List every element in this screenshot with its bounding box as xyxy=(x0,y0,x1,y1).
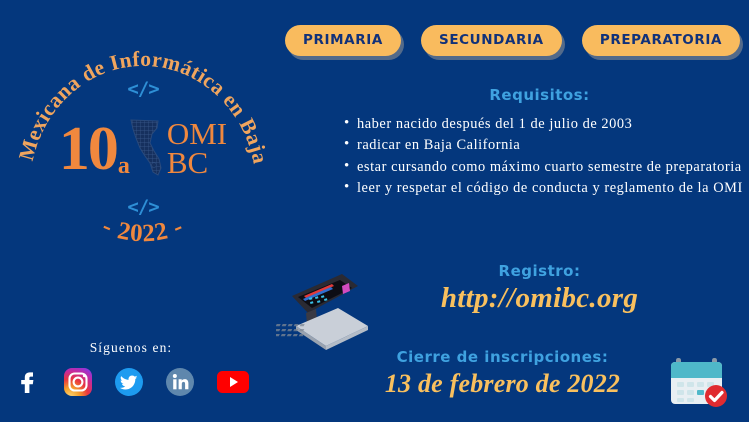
poster-root: Olimpiada Mexicana de Informática en Baj… xyxy=(0,0,749,422)
follow-us-label: Síguenos en: xyxy=(0,340,262,356)
youtube-icon[interactable] xyxy=(216,369,250,395)
deadline-heading: Cierre de inscripciones: xyxy=(330,348,675,366)
level-button-row: PRIMARIA SECUNDARIA PREPARATORIA xyxy=(285,22,740,58)
desktop-computer-keyboard-illustration xyxy=(276,266,372,358)
social-section: Síguenos en: xyxy=(0,340,262,397)
instagram-icon[interactable] xyxy=(63,367,93,397)
requirements-list: haber nacido después del 1 de julio de 2… xyxy=(330,114,749,199)
level-button-secundaria[interactable]: SECUNDARIA xyxy=(421,25,562,56)
level-button-preparatoria[interactable]: PREPARATORIA xyxy=(582,25,740,56)
logo-acronym: OMI BC xyxy=(167,120,227,177)
registration-section: Registro: http://omibc.org xyxy=(330,262,749,315)
omi-bc-logo: Olimpiada Mexicana de Informática en Baj… xyxy=(8,2,278,292)
requirements-section: Requisitos: haber nacido después del 1 d… xyxy=(330,86,749,200)
code-bracket-bottom-icon: </> xyxy=(8,196,278,218)
level-button-primaria[interactable]: PRIMARIA xyxy=(285,25,401,56)
code-bracket-top-icon: </> xyxy=(8,78,278,100)
registration-url[interactable]: http://omibc.org xyxy=(330,282,749,315)
logo-acronym-bc: BC xyxy=(167,149,227,178)
deadline-section: Cierre de inscripciones: 13 de febrero d… xyxy=(330,348,675,399)
calendar-check-icon xyxy=(669,354,731,410)
registration-heading: Registro: xyxy=(330,262,749,280)
social-icon-row xyxy=(0,367,262,397)
deadline-date: 13 de febrero de 2022 xyxy=(330,369,675,399)
linkedin-icon[interactable] xyxy=(165,367,195,397)
logo-edition-number: 10 xyxy=(59,118,117,180)
requirements-heading: Requisitos: xyxy=(330,86,749,104)
baja-california-map-icon xyxy=(128,118,168,180)
requirement-item: haber nacido después del 1 de julio de 2… xyxy=(344,114,749,134)
facebook-icon[interactable] xyxy=(12,367,42,397)
requirement-item: radicar en Baja California xyxy=(344,135,749,155)
requirement-item: leer y respetar el código de conducta y … xyxy=(344,178,749,198)
logo-center-group: 10 a OMI BC xyxy=(8,110,278,188)
twitter-icon[interactable] xyxy=(114,367,144,397)
requirement-item: estar cursando como máximo cuarto semest… xyxy=(344,157,749,177)
